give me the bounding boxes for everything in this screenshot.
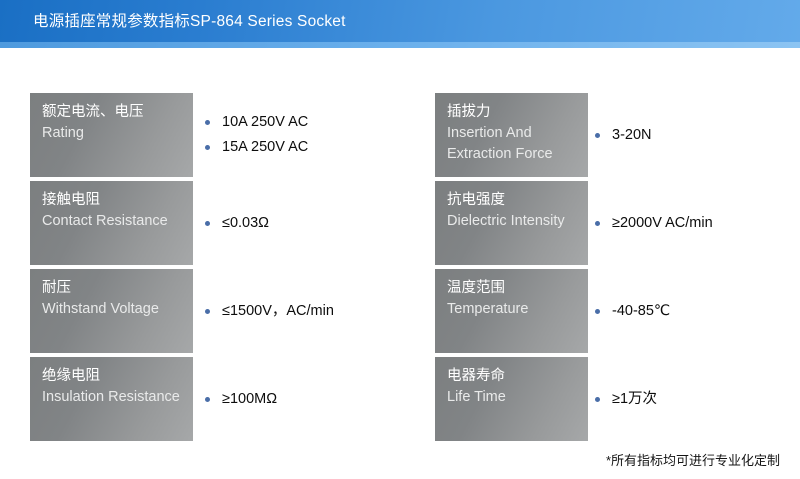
value-text: ≥2000V AC/min — [612, 211, 713, 236]
spec-row: 抗电强度 Dielectric Intensity ≥2000V AC/min — [435, 181, 800, 265]
spec-label-en: Rating — [42, 123, 183, 144]
footnote-text: *所有指标均可进行专业化定制 — [606, 450, 780, 469]
value-text: 10A 250V AC — [222, 110, 308, 135]
spec-label-en: Life Time — [447, 387, 578, 408]
value-line: ≤0.03Ω — [205, 211, 455, 236]
bullet-icon — [595, 133, 600, 138]
spec-label-en: Insulation Resistance — [42, 387, 183, 408]
spec-value-rating: 10A 250V AC 15A 250V AC — [205, 93, 455, 177]
spec-value-insulation-resistance: ≥100MΩ — [205, 357, 455, 441]
spec-row: 温度范围 Temperature -40-85℃ — [435, 269, 800, 353]
value-text: ≥1万次 — [612, 387, 657, 412]
spec-row: 绝缘电阻 Insulation Resistance ≥100MΩ — [30, 357, 460, 441]
spec-value-contact-resistance: ≤0.03Ω — [205, 181, 455, 265]
spec-label-cn: 抗电强度 — [447, 190, 578, 211]
bullet-icon — [205, 120, 210, 125]
spec-label-cn: 接触电阻 — [42, 190, 183, 211]
spec-label-insulation-resistance: 绝缘电阻 Insulation Resistance — [30, 357, 193, 441]
value-line: 15A 250V AC — [205, 135, 455, 160]
value-text: ≥100MΩ — [222, 387, 277, 412]
spec-row: 插拔力 Insertion And Extraction Force 3-20N — [435, 93, 800, 177]
bullet-icon — [595, 309, 600, 314]
spec-label-cn: 温度范围 — [447, 278, 578, 299]
spec-label-temperature: 温度范围 Temperature — [435, 269, 588, 353]
spec-value-dielectric-intensity: ≥2000V AC/min — [595, 181, 800, 265]
spec-label-en: Withstand Voltage — [42, 299, 183, 320]
value-text: 15A 250V AC — [222, 135, 308, 160]
spec-label-insertion-force: 插拔力 Insertion And Extraction Force — [435, 93, 588, 177]
page-title: 电源插座常规参数指标SP-864 Series Socket — [33, 0, 346, 42]
spec-label-en: Insertion And — [447, 123, 578, 144]
spec-label-cn: 耐压 — [42, 278, 183, 299]
spec-label-cn: 绝缘电阻 — [42, 366, 183, 387]
spec-label-cn: 电器寿命 — [447, 366, 578, 387]
spec-label-withstand-voltage: 耐压 Withstand Voltage — [30, 269, 193, 353]
spec-label-cn: 额定电流、电压 — [42, 102, 183, 123]
spec-label-rating: 额定电流、电压 Rating — [30, 93, 193, 177]
spec-column-right: 插拔力 Insertion And Extraction Force 3-20N… — [435, 93, 800, 441]
value-text: 3-20N — [612, 123, 652, 148]
value-line: ≤1500V，AC/min — [205, 299, 455, 324]
value-line: 3-20N — [595, 123, 800, 148]
bullet-icon — [205, 145, 210, 150]
spec-label-contact-resistance: 接触电阻 Contact Resistance — [30, 181, 193, 265]
spec-label-dielectric-intensity: 抗电强度 Dielectric Intensity — [435, 181, 588, 265]
value-text: ≤0.03Ω — [222, 211, 269, 236]
value-line: ≥2000V AC/min — [595, 211, 800, 236]
spec-label-life-time: 电器寿命 Life Time — [435, 357, 588, 441]
bullet-icon — [595, 221, 600, 226]
spec-label-en: Contact Resistance — [42, 211, 183, 232]
spec-label-en: Dielectric Intensity — [447, 211, 578, 232]
spec-label-cn: 插拔力 — [447, 102, 578, 123]
spec-row: 接触电阻 Contact Resistance ≤0.03Ω — [30, 181, 460, 265]
spec-column-left: 额定电流、电压 Rating 10A 250V AC 15A 250V AC 接… — [30, 93, 460, 441]
spec-row: 耐压 Withstand Voltage ≤1500V，AC/min — [30, 269, 460, 353]
spec-row: 额定电流、电压 Rating 10A 250V AC 15A 250V AC — [30, 93, 460, 177]
spec-label-en-line2: Extraction Force — [447, 144, 578, 165]
value-text: ≤1500V，AC/min — [222, 299, 334, 324]
value-line: ≥100MΩ — [205, 387, 455, 412]
value-line: 10A 250V AC — [205, 110, 455, 135]
value-line: -40-85℃ — [595, 299, 800, 324]
spec-value-life-time: ≥1万次 — [595, 357, 800, 441]
spec-value-withstand-voltage: ≤1500V，AC/min — [205, 269, 455, 353]
spec-value-temperature: -40-85℃ — [595, 269, 800, 353]
value-line: ≥1万次 — [595, 387, 800, 412]
value-text: -40-85℃ — [612, 299, 670, 324]
bullet-icon — [205, 221, 210, 226]
header-accent-strip — [0, 42, 800, 48]
bullet-icon — [595, 397, 600, 402]
spec-label-en: Temperature — [447, 299, 578, 320]
bullet-icon — [205, 309, 210, 314]
spec-value-insertion-force: 3-20N — [595, 93, 800, 177]
spec-table: 额定电流、电压 Rating 10A 250V AC 15A 250V AC 接… — [0, 93, 800, 441]
spec-row: 电器寿命 Life Time ≥1万次 — [435, 357, 800, 441]
bullet-icon — [205, 397, 210, 402]
